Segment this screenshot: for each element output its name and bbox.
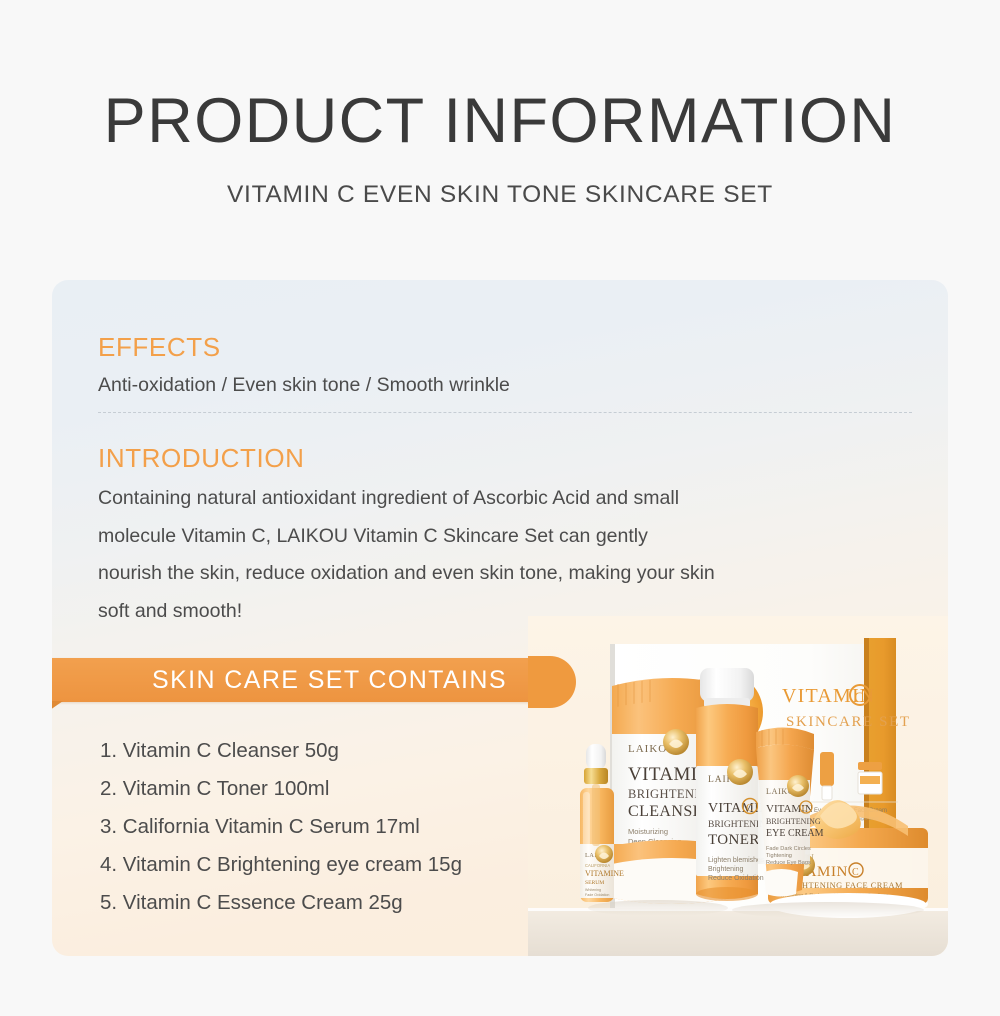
introduction-line: Containing natural antioxidant ingredien… [98, 480, 898, 518]
svg-text:C: C [852, 867, 859, 878]
list-item: 1. Vitamin C Cleanser 50g [100, 732, 462, 770]
svg-text:C: C [802, 803, 808, 813]
svg-text:C: C [854, 690, 864, 706]
svg-text:Lighten blemishes: Lighten blemishes [708, 857, 765, 864]
list-item: 4. Vitamin C Brightening eye cream 15g [100, 846, 462, 884]
list-item: 2. Vitamin C Toner 100ml [100, 770, 462, 808]
svg-text:Reduce Eye Bags: Reduce Eye Bags [766, 860, 811, 866]
svg-text:Tightening: Tightening [766, 853, 792, 859]
banner-tail-shape [52, 701, 63, 710]
page-title: PRODUCT INFORMATION [0, 88, 1000, 154]
introduction-heading: INTRODUCTION [98, 443, 305, 474]
svg-text:SERUM: SERUM [585, 880, 604, 886]
banner-body: SKIN CARE SET CONTAINS [52, 658, 572, 702]
svg-text:VITAMINE: VITAMINE [585, 869, 624, 878]
set-contents-list: 1. Vitamin C Cleanser 50g 2. Vitamin C T… [100, 732, 462, 922]
svg-text:Moisturizing: Moisturizing [628, 827, 668, 836]
list-item: 3. California Vitamin C Serum 17ml [100, 808, 462, 846]
svg-text:Fade Dark Circles: Fade Dark Circles [766, 846, 811, 852]
product-photo: VITAMIN C SKINCARE SET Eye cream 15g/0.5… [528, 616, 948, 956]
svg-text:CALIFORNIA: CALIFORNIA [585, 863, 610, 868]
svg-text:SKINCARE SET: SKINCARE SET [786, 714, 911, 730]
list-item: 5. Vitamin C Essence Cream 25g [100, 884, 462, 922]
section-divider [98, 412, 912, 413]
effects-body: Anti-oxidation / Even skin tone / Smooth… [98, 374, 510, 397]
skin-care-set-banner: SKIN CARE SET CONTAINS [52, 658, 572, 702]
svg-text:EYE CREAM: EYE CREAM [766, 828, 824, 839]
banner-label: SKIN CARE SET CONTAINS [152, 666, 507, 695]
svg-text:C: C [746, 803, 753, 814]
introduction-line: molecule Vitamin C, LAIKOU Vitamin C Ski… [98, 518, 898, 556]
product-information-page: PRODUCT INFORMATION VITAMIN C EVEN SKIN … [0, 0, 1000, 1016]
svg-text:BRIGHTENING: BRIGHTENING [766, 817, 821, 826]
svg-text:Whitening: Whitening [585, 888, 601, 892]
effects-heading: EFFECTS [98, 332, 221, 363]
page-subtitle: VITAMIN C EVEN SKIN TONE SKINCARE SET [0, 181, 1000, 209]
svg-text:Brightening: Brightening [708, 866, 744, 873]
svg-text:TONER: TONER [708, 832, 760, 848]
page-header: PRODUCT INFORMATION VITAMIN C EVEN SKIN … [0, 0, 1000, 209]
introduction-body: Containing natural antioxidant ingredien… [98, 480, 898, 630]
introduction-line: nourish the skin, reduce oxidation and e… [98, 555, 898, 593]
info-card: EFFECTS Anti-oxidation / Even skin tone … [52, 280, 948, 956]
svg-text:Fade Oxidation: Fade Oxidation [585, 893, 609, 897]
svg-text:Reduce Oxidation: Reduce Oxidation [708, 875, 764, 882]
